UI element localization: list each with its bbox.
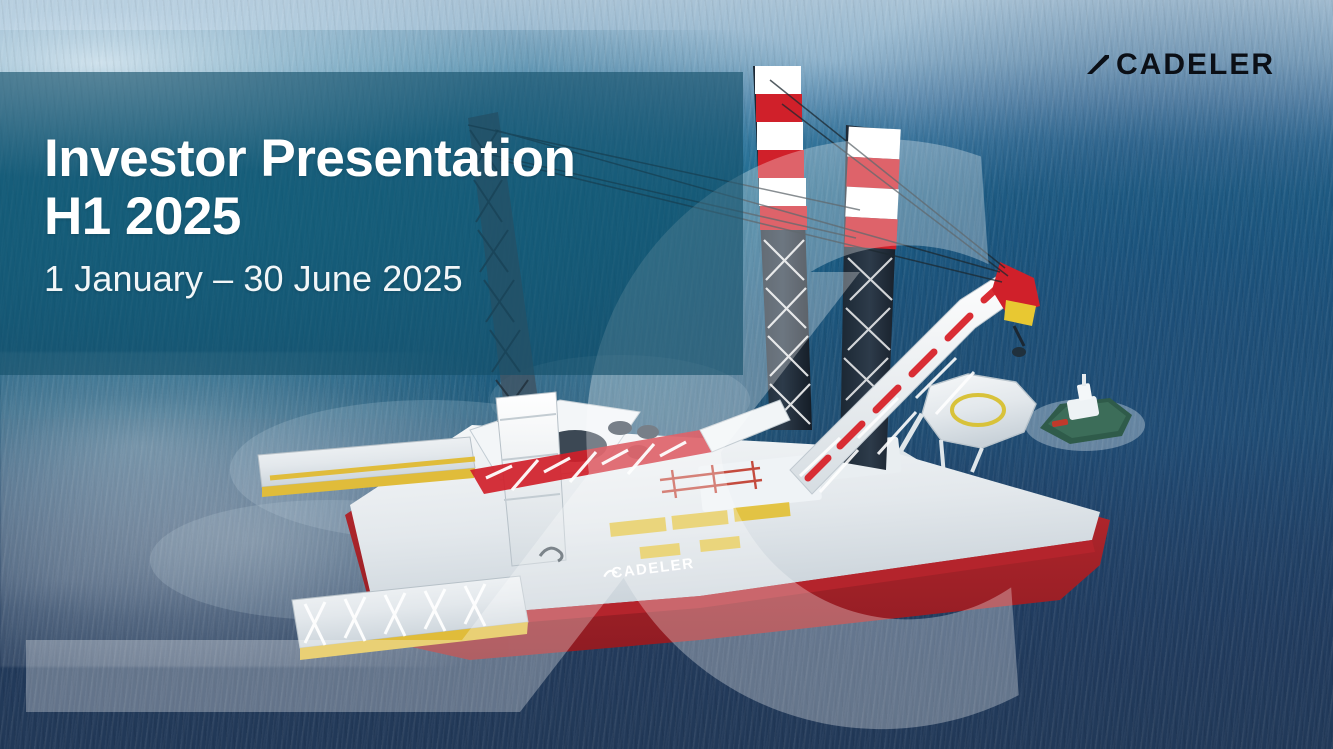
tugboat <box>1025 374 1145 451</box>
cadeler-logo: CADELER <box>1083 50 1275 80</box>
cadeler-wordmark: CADELER <box>1116 50 1275 80</box>
page-title-line-2: H1 2025 <box>44 188 744 246</box>
title-block: Investor Presentation H1 2025 1 January … <box>44 130 744 302</box>
title-slide: CADELER Investor Presentation H1 2025 1 … <box>0 0 1333 749</box>
cadeler-slash-mark-icon <box>1083 50 1113 80</box>
page-title-line-1: Investor Presentation <box>44 130 744 188</box>
page-subtitle: 1 January – 30 June 2025 <box>44 256 744 302</box>
